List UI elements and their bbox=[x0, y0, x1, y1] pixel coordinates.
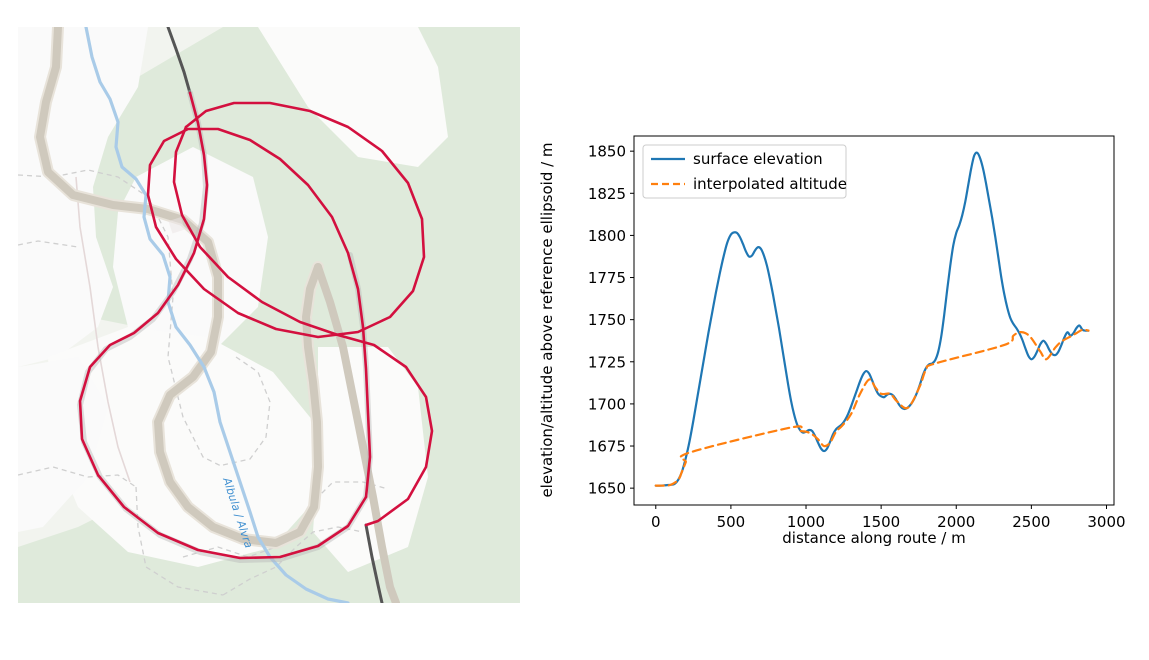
x-tick-label: 3000 bbox=[1087, 513, 1125, 531]
x-tick-label: 0 bbox=[651, 513, 661, 531]
x-tick-label: 500 bbox=[717, 513, 746, 531]
y-tick-label: 1825 bbox=[588, 185, 626, 203]
y-tick-label: 1750 bbox=[588, 311, 626, 329]
legend-label-interpolated-altitude: interpolated altitude bbox=[693, 175, 847, 193]
y-tick-label: 1675 bbox=[588, 438, 626, 456]
x-tick-label: 2500 bbox=[1012, 513, 1050, 531]
elevation-profile-chart[interactable]: 165016751700172517501775180018251850 050… bbox=[530, 118, 1142, 558]
y-tick-label: 1725 bbox=[588, 353, 626, 371]
y-tick-label: 1775 bbox=[588, 269, 626, 287]
route-overview-map[interactable]: Albula / Alvra bbox=[18, 27, 520, 603]
y-axis-title: elevation/altitude above reference ellip… bbox=[538, 142, 556, 497]
chart-legend[interactable]: surface elevation interpolated altitude bbox=[643, 145, 847, 198]
x-axis-title: distance along route / m bbox=[782, 529, 966, 547]
y-tick-label: 1700 bbox=[588, 395, 626, 413]
screenshot-root: Albula / Alvra 1650167517001725175017751… bbox=[0, 0, 1149, 660]
y-tick-label: 1650 bbox=[588, 480, 626, 498]
y-tick-label: 1850 bbox=[588, 143, 626, 161]
y-tick-label: 1800 bbox=[588, 227, 626, 245]
legend-label-surface-elevation: surface elevation bbox=[693, 150, 823, 168]
